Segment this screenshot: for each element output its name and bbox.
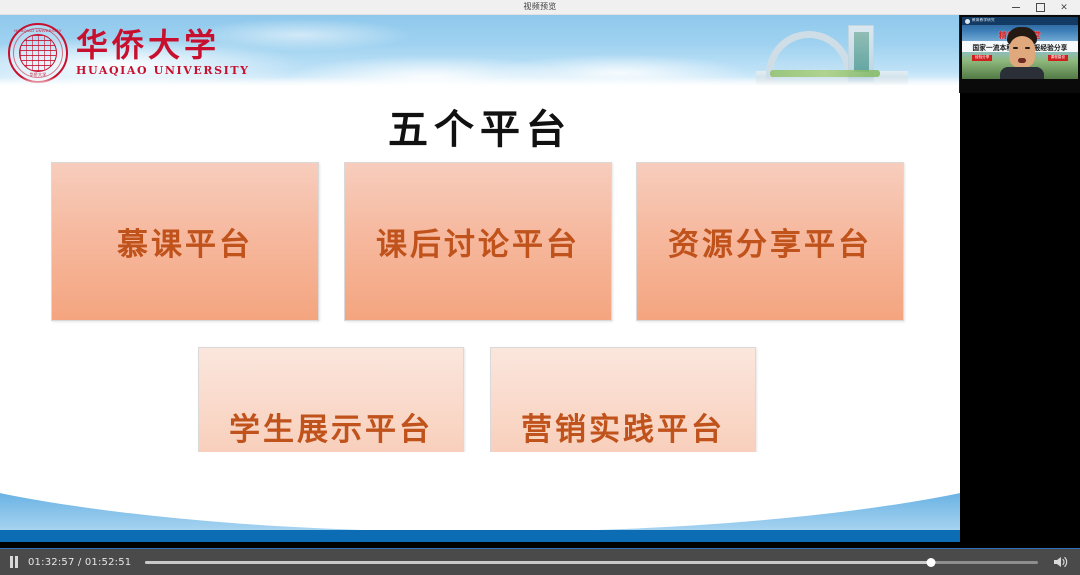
webcam-pip[interactable]: 教育教学研究 精彩大讲堂 国家一流本科课程申报经验分享 经验分享 课程建设: [959, 15, 1080, 93]
maximize-icon[interactable]: [1028, 0, 1052, 14]
platform-box-label: 营销实践平台: [521, 404, 725, 449]
webcam-channel-bar: 教育教学研究: [962, 17, 1078, 25]
seek-thumb[interactable]: [926, 558, 935, 567]
window-titlebar[interactable]: 视频预览 ✕: [0, 0, 1080, 15]
volume-icon[interactable]: [1052, 555, 1070, 569]
platform-box-label: 学生展示平台: [229, 404, 433, 449]
campus-greenery: [770, 70, 880, 77]
window-controls: ✕: [1004, 0, 1076, 14]
slide-footer-decoration: [0, 452, 960, 542]
university-name-cn: 华侨大学: [76, 29, 250, 63]
close-icon[interactable]: ✕: [1052, 0, 1076, 14]
webcam-scene: 教育教学研究 精彩大讲堂 国家一流本科课程申报经验分享 经验分享 课程建设: [962, 17, 1078, 79]
platform-box-label: 慕课平台: [117, 219, 253, 264]
player-control-bar: 01:32:57 / 01:52:51: [0, 548, 1080, 575]
presentation-slide: HUAQIAO UNIVERSITY 华侨大学 华侨大学 HUAQIAO UNI…: [0, 15, 960, 542]
presenter-eye-right: [1025, 47, 1030, 49]
presenter-mouth: [1018, 58, 1026, 63]
webcam-tag-left: 经验分享: [972, 55, 992, 61]
video-viewport[interactable]: HUAQIAO UNIVERSITY 华侨大学 华侨大学 HUAQIAO UNI…: [0, 15, 1080, 548]
channel-label: 教育教学研究: [972, 19, 995, 23]
pause-icon[interactable]: [8, 555, 20, 569]
platform-box-label: 资源分享平台: [668, 219, 872, 264]
university-logo-block: HUAQIAO UNIVERSITY 华侨大学 华侨大学 HUAQIAO UNI…: [8, 23, 250, 83]
presenter-eye-left: [1013, 47, 1018, 49]
time-display: 01:32:57 / 01:52:51: [28, 557, 131, 568]
header-fade: [0, 77, 960, 87]
footer-ellipse: [0, 452, 960, 532]
webcam-presenter: [1002, 27, 1042, 79]
channel-logo-icon: [965, 19, 970, 24]
presenter-body: [1000, 67, 1044, 79]
platform-box-resource: 资源分享平台: [636, 162, 904, 321]
minimize-icon[interactable]: [1004, 0, 1028, 14]
slide-title: 五个平台: [0, 97, 960, 155]
seal-text-top: HUAQIAO UNIVERSITY: [10, 28, 66, 33]
slide-header-banner: HUAQIAO UNIVERSITY 华侨大学 华侨大学 HUAQIAO UNI…: [0, 15, 960, 87]
platform-box-mooc: 慕课平台: [51, 162, 319, 321]
platform-box-label: 课后讨论平台: [376, 219, 580, 264]
seek-slider[interactable]: [145, 555, 1038, 569]
footer-bar: [0, 530, 960, 542]
university-seal-icon: HUAQIAO UNIVERSITY 华侨大学: [8, 23, 68, 83]
webcam-tag-right: 课程建设: [1048, 55, 1068, 61]
university-name-en: HUAQIAO UNIVERSITY: [76, 64, 250, 77]
seek-filled: [145, 561, 931, 564]
presenter-face: [1009, 36, 1035, 68]
video-preview-window: 视频预览 ✕ HUAQIAO UNIVERSITY 华侨大学 华侨大学 HUAQ…: [0, 0, 1080, 575]
platform-box-discussion: 课后讨论平台: [344, 162, 612, 321]
window-title: 视频预览: [0, 0, 1080, 14]
university-names: 华侨大学 HUAQIAO UNIVERSITY: [76, 29, 250, 78]
